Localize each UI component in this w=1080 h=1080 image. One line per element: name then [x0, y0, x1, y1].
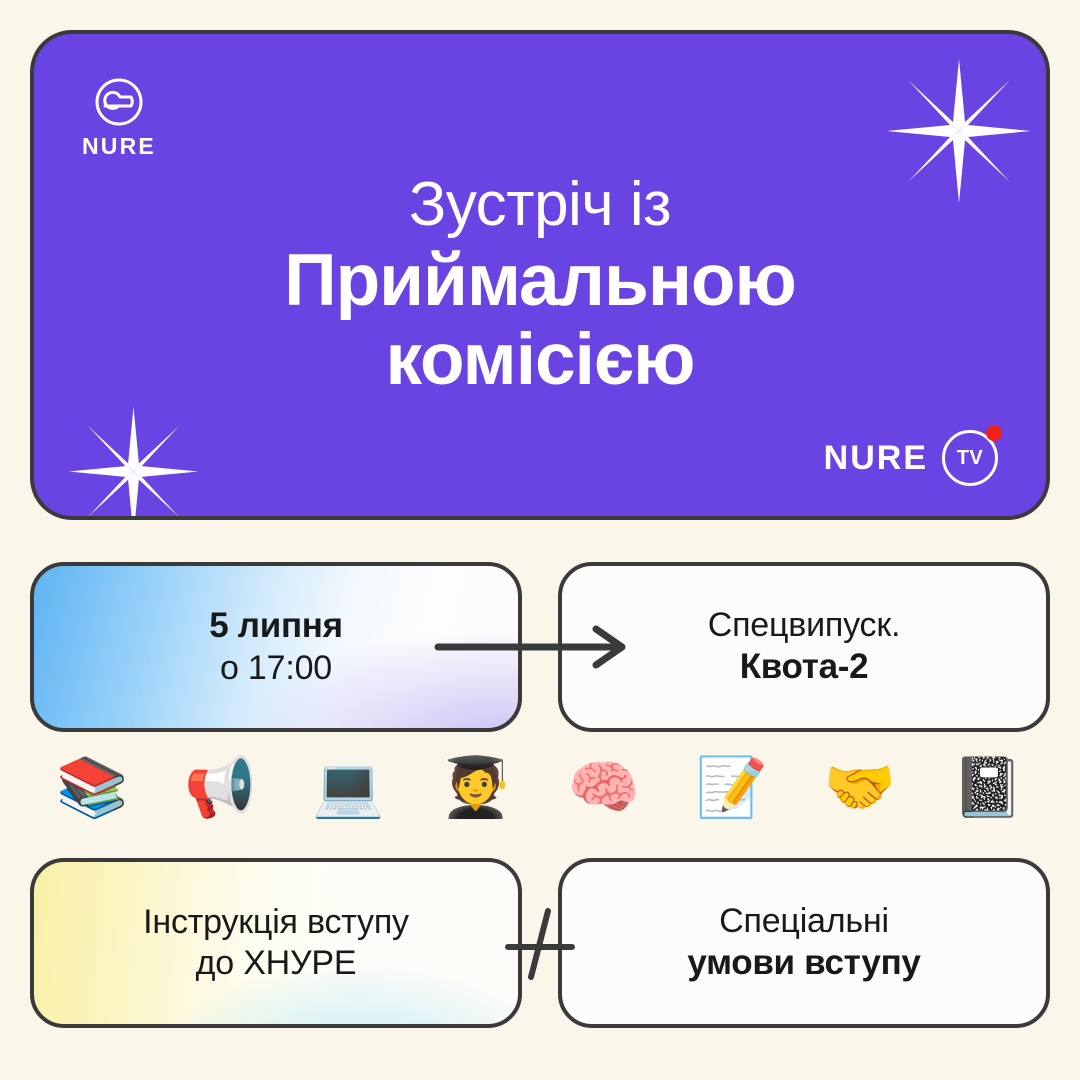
card-special-issue[interactable]: Спецвипуск. Квота-2 — [558, 562, 1050, 732]
conditions-line-1: Спеціальні — [687, 901, 920, 942]
books-emoji: 📚 — [56, 758, 128, 816]
loudspeaker-emoji: 📢 — [184, 758, 256, 816]
hero-card: NURE — [30, 30, 1050, 520]
card-date-time[interactable]: 5 липня о 17:00 — [30, 562, 522, 732]
instruction-line-2: до ХНУРЕ — [143, 943, 409, 984]
laptop-emoji: 💻 — [312, 758, 384, 816]
tv-badge: TV — [942, 430, 998, 486]
row-topics: Інструкція вступу до ХНУРЕ Спеціальні ум… — [30, 858, 1050, 1028]
event-time: о 17:00 — [209, 648, 343, 689]
nure-logo: NURE — [82, 76, 156, 158]
instruction-line-1: Інструкція вступу — [143, 902, 409, 943]
brain-emoji: 🧠 — [568, 758, 640, 816]
nure-tv-wordmark: NURE — [824, 441, 928, 475]
emoji-strip: 📚 📢 💻 🧑‍🎓 🧠 📝 🤝 📓 — [40, 758, 1040, 816]
nure-circle-logo-icon — [93, 76, 145, 128]
row-schedule: 5 липня о 17:00 Спецвипуск. Квота-2 — [30, 562, 1050, 732]
quota-label: Квота-2 — [708, 646, 901, 689]
memo-emoji: 📝 — [696, 758, 768, 816]
card-admission-instructions-text: Інструкція вступу до ХНУРЕ — [143, 902, 409, 985]
card-admission-instructions[interactable]: Інструкція вступу до ХНУРЕ — [30, 858, 522, 1028]
notebook-emoji: 📓 — [952, 758, 1024, 816]
red-dot-icon — [986, 425, 1002, 441]
special-issue-label: Спецвипуск. — [708, 605, 901, 646]
hero-title-line-2: Приймальною — [34, 242, 1046, 319]
tv-badge-label: TV — [957, 448, 984, 468]
card-special-issue-text: Спецвипуск. Квота-2 — [708, 605, 901, 689]
nure-wordmark: NURE — [82, 135, 156, 158]
event-date: 5 липня — [209, 605, 343, 648]
nure-tv-logo: NURE TV — [824, 430, 998, 486]
hero-title-line-1: Зустріч із — [34, 172, 1046, 238]
card-date-time-text: 5 липня о 17:00 — [209, 605, 343, 689]
sparkle-icon — [66, 404, 201, 520]
card-special-conditions-text: Спеціальні умови вступу — [687, 901, 920, 985]
hero-title-line-3: комісією — [34, 321, 1046, 398]
conditions-line-2: умови вступу — [687, 942, 920, 985]
handshake-emoji: 🤝 — [824, 758, 896, 816]
poster-root: NURE — [0, 0, 1080, 1080]
card-special-conditions[interactable]: Спеціальні умови вступу — [558, 858, 1050, 1028]
graduate-emoji: 🧑‍🎓 — [440, 758, 512, 816]
hero-title: Зустріч із Приймальною комісією — [34, 172, 1046, 398]
